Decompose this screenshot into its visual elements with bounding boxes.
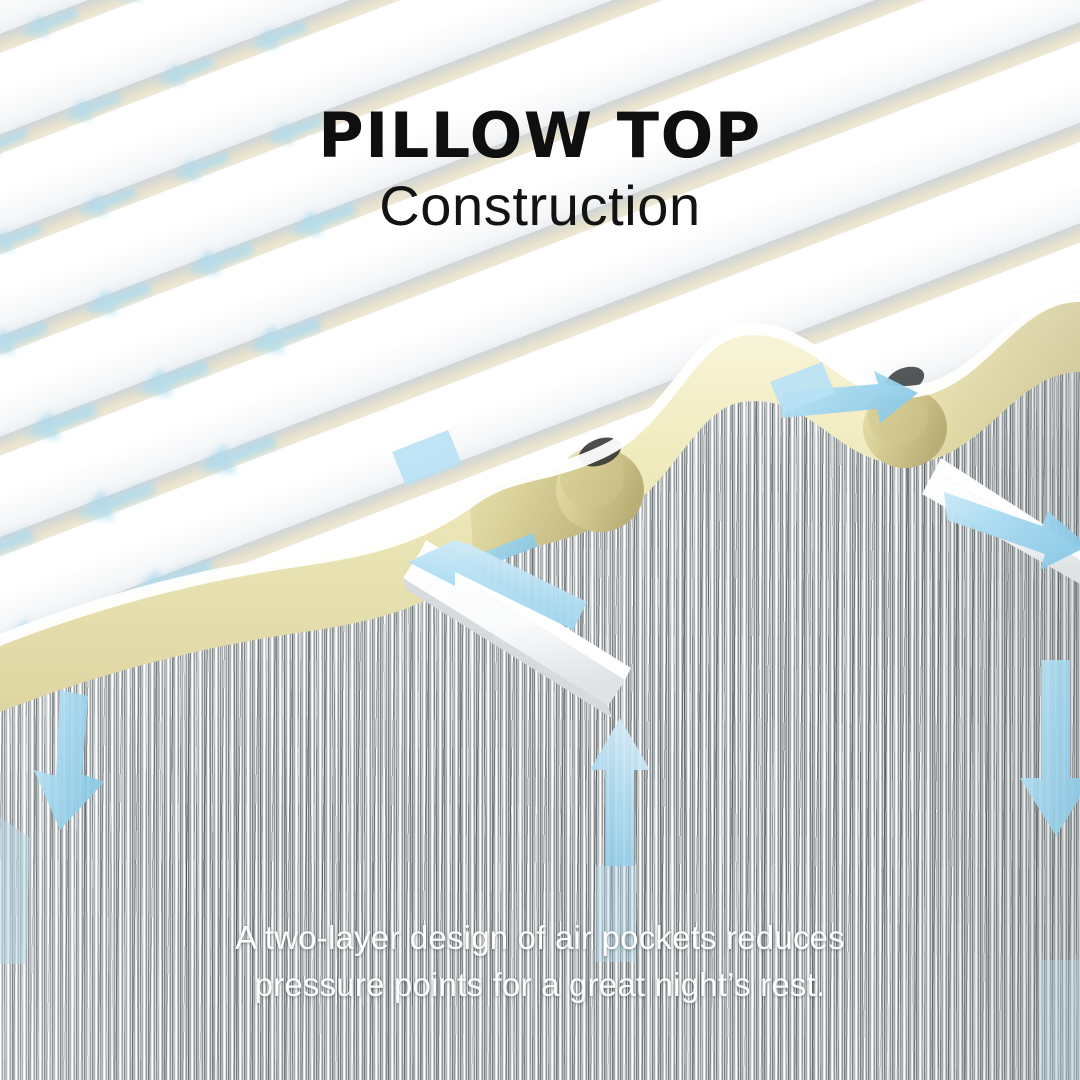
core-arrow-down-left [34, 690, 104, 830]
illustration-canvas: PILLOW TOP Construction A two-layer desi… [0, 0, 1080, 1080]
core-arrow-down-right-2 [1020, 660, 1080, 836]
core-arrow-up [590, 718, 650, 866]
core-arrow-down-right [944, 492, 1080, 570]
mattress-cutaway-artwork [0, 0, 1080, 1080]
